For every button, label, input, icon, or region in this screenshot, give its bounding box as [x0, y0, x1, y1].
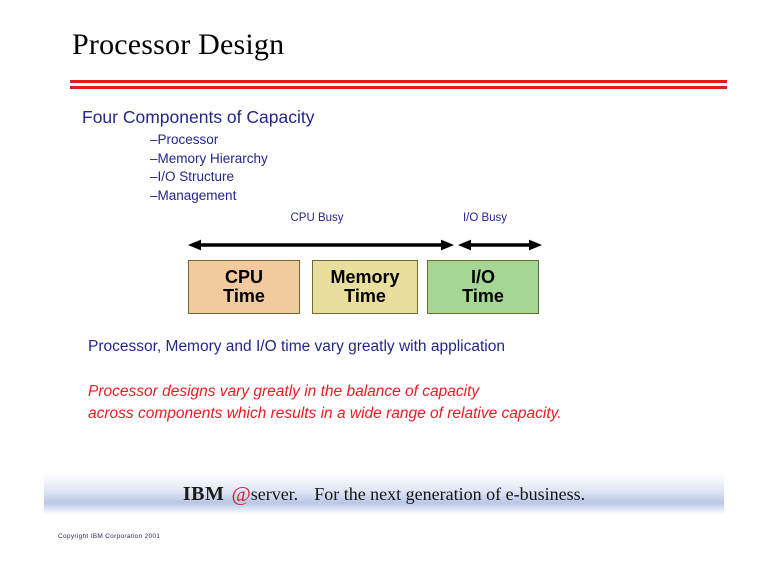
io-busy-double-arrow-icon: [458, 239, 542, 251]
memory-time-box-line1: Memory: [330, 268, 399, 287]
footer-banner: IBM @ server. For the next generation of…: [44, 474, 724, 514]
emphasis-line-1: Processor designs vary greatly in the ba…: [88, 381, 562, 403]
copyright-notice: Copyright IBM Corporation 2001: [58, 533, 160, 540]
time-breakdown-diagram: CPU Busy I/O Busy CPU Time Memory Time I…: [188, 212, 542, 316]
list-item-label: Memory Hierarchy: [158, 151, 268, 166]
eserver-e-logo-icon: @: [231, 484, 250, 505]
list-item: –I/O Structure: [82, 168, 314, 187]
ibm-logo: IBM: [183, 484, 227, 504]
memory-time-box: Memory Time: [312, 260, 418, 314]
dash-marker: –: [150, 132, 158, 147]
dash-marker: –: [150, 169, 158, 184]
title-divider-line-top: [70, 80, 727, 83]
io-time-box-line2: Time: [462, 287, 504, 306]
dash-marker: –: [150, 151, 158, 166]
title-divider: [70, 80, 727, 91]
io-busy-label: I/O Busy: [431, 212, 539, 224]
memory-time-box-line2: Time: [344, 287, 386, 306]
cpu-time-box: CPU Time: [188, 260, 300, 314]
cpu-busy-label: CPU Busy: [232, 212, 402, 224]
io-time-box-line1: I/O: [471, 268, 495, 287]
title-divider-line-bottom: [70, 86, 727, 89]
bullet-sublist: –Processor –Memory Hierarchy –I/O Struct…: [82, 131, 314, 205]
list-item: –Memory Hierarchy: [82, 150, 314, 169]
footer-tagline: For the next generation of e-business.: [314, 485, 585, 503]
dash-marker: –: [150, 188, 158, 203]
bullet-block: Four Components of Capacity –Processor –…: [82, 106, 314, 205]
list-item: –Management: [82, 187, 314, 206]
emphasis-statement: Processor designs vary greatly in the ba…: [88, 381, 562, 424]
emphasis-line-2: across components which results in a wid…: [88, 403, 562, 425]
io-time-box: I/O Time: [427, 260, 539, 314]
page-title: Processor Design: [72, 28, 284, 62]
list-item-label: Management: [158, 188, 237, 203]
bullet-heading: Four Components of Capacity: [82, 106, 314, 128]
list-item: –Processor: [82, 131, 314, 150]
list-item-label: I/O Structure: [158, 169, 235, 184]
cpu-time-box-line2: Time: [223, 287, 265, 306]
footer-banner-content: IBM @ server. For the next generation of…: [44, 474, 724, 514]
cpu-busy-double-arrow-icon: [188, 239, 454, 251]
slide-canvas: Processor Design Four Components of Capa…: [0, 0, 768, 576]
list-item-label: Processor: [158, 132, 219, 147]
time-boxes: CPU Time Memory Time I/O Time: [188, 260, 542, 316]
summary-statement: Processor, Memory and I/O time vary grea…: [88, 338, 505, 356]
cpu-time-box-line1: CPU: [225, 268, 263, 287]
eserver-wordmark: server.: [251, 485, 298, 503]
